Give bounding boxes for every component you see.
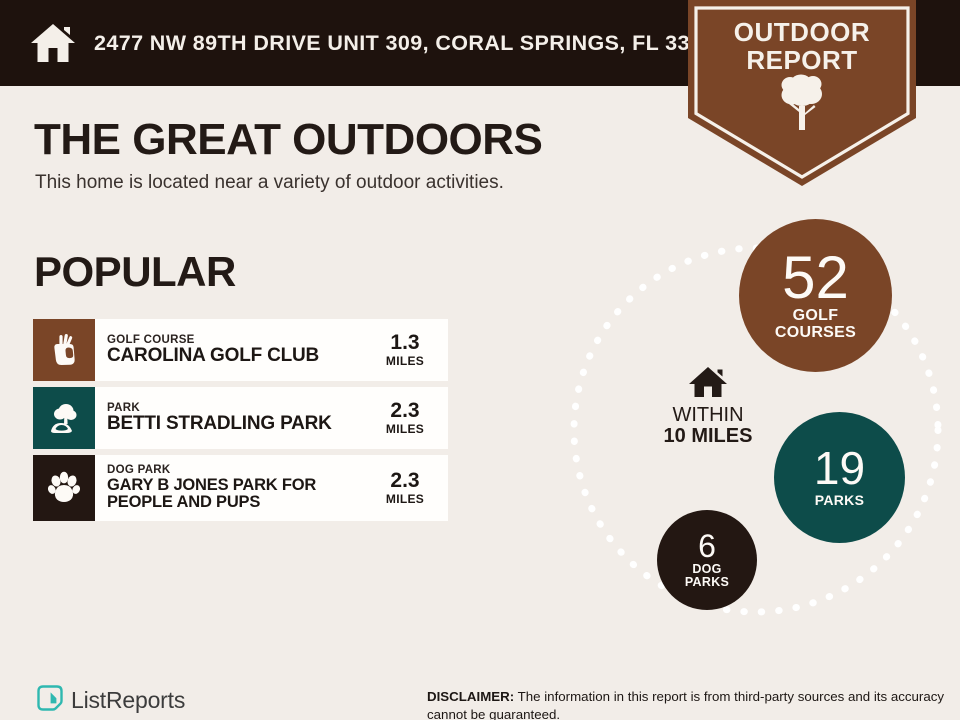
golf-bag-icon (49, 333, 79, 367)
list-item-name: GARY B JONES PARK FOR PEOPLE AND PUPS (107, 477, 364, 512)
list-item[interactable]: GOLF COURSE CAROLINA GOLF CLUB 1.3 MILES (33, 319, 448, 381)
header-content: 2477 NW 89TH DRIVE UNIT 309, CORAL SPRIN… (30, 0, 727, 86)
listreports-house-icon (36, 684, 64, 717)
within-label-line2: 10 MILES (632, 426, 784, 447)
list-item-text: GOLF COURSE CAROLINA GOLF CLUB (95, 319, 368, 381)
list-item[interactable]: DOG PARK GARY B JONES PARK FOR PEOPLE AN… (33, 455, 448, 521)
distance-value: 1.3 (390, 332, 419, 354)
listreports-logo-text: ListReports (71, 687, 185, 714)
list-item-name: BETTI STRADLING PARK (107, 414, 364, 434)
list-item-icon-box (33, 319, 95, 381)
list-item[interactable]: PARK BETTI STRADLING PARK 2.3 MILES (33, 387, 448, 449)
list-item-name: CAROLINA GOLF CLUB (107, 346, 364, 366)
list-item-text: DOG PARK GARY B JONES PARK FOR PEOPLE AN… (95, 455, 368, 521)
property-address: 2477 NW 89TH DRIVE UNIT 309, CORAL SPRIN… (94, 31, 727, 56)
stat-label-line2: PARKS (685, 576, 729, 589)
stat-label-line1: PARKS (815, 493, 864, 508)
page-subtitle: This home is located near a variety of o… (35, 172, 504, 194)
within-radius-block: WITHIN 10 MILES (632, 365, 784, 447)
stat-dog-parks: 6 DOG PARKS (657, 510, 757, 610)
home-icon (30, 22, 76, 64)
listreports-logo[interactable]: ListReports (36, 684, 185, 717)
stat-value: 6 (698, 531, 716, 561)
stat-parks: 19 PARKS (774, 412, 905, 543)
outdoor-report-badge: OUTDOOR REPORT (688, 0, 916, 186)
stat-label-line1: GOLF (775, 308, 856, 325)
stat-label: GOLF COURSES (775, 308, 856, 341)
distance-unit: MILES (386, 492, 424, 506)
list-item-distance: 2.3 MILES (368, 455, 448, 521)
list-item-text: PARK BETTI STRADLING PARK (95, 387, 368, 449)
distance-unit: MILES (386, 354, 424, 368)
list-item-icon-box (33, 387, 95, 449)
park-tree-icon (47, 402, 81, 434)
popular-section-title: POPULAR (34, 248, 236, 296)
stat-label: DOG PARKS (685, 563, 729, 589)
stat-value: 19 (814, 447, 865, 491)
page-title: THE GREAT OUTDOORS (34, 115, 542, 165)
list-item-category: DOG PARK (107, 464, 364, 477)
distance-value: 2.3 (390, 400, 419, 422)
distance-value: 2.3 (390, 470, 419, 492)
stat-golf-courses: 52 GOLF COURSES (739, 219, 892, 372)
badge-title-line2: REPORT (688, 46, 916, 74)
list-item-distance: 2.3 MILES (368, 387, 448, 449)
popular-list: GOLF COURSE CAROLINA GOLF CLUB 1.3 MILES (33, 319, 448, 527)
disclaimer-label: DISCLAIMER: (427, 689, 514, 704)
stat-value: 52 (782, 249, 849, 306)
home-icon (632, 365, 784, 399)
list-item-icon-box (33, 455, 95, 521)
list-item-distance: 1.3 MILES (368, 319, 448, 381)
stats-cluster: 52 GOLF COURSES 19 PARKS 6 DOG PARKS (560, 200, 960, 660)
badge-title-line1: OUTDOOR (688, 18, 916, 46)
within-label-line1: WITHIN (632, 405, 784, 426)
outdoor-report-page: 2477 NW 89TH DRIVE UNIT 309, CORAL SPRIN… (0, 0, 960, 720)
stat-label: PARKS (815, 493, 864, 508)
stat-label-line1: DOG (685, 563, 729, 576)
distance-unit: MILES (386, 422, 424, 436)
paw-print-icon (48, 471, 80, 505)
badge-title: OUTDOOR REPORT (688, 18, 916, 74)
stat-label-line2: COURSES (775, 325, 856, 342)
disclaimer: DISCLAIMER: The information in this repo… (427, 688, 947, 720)
